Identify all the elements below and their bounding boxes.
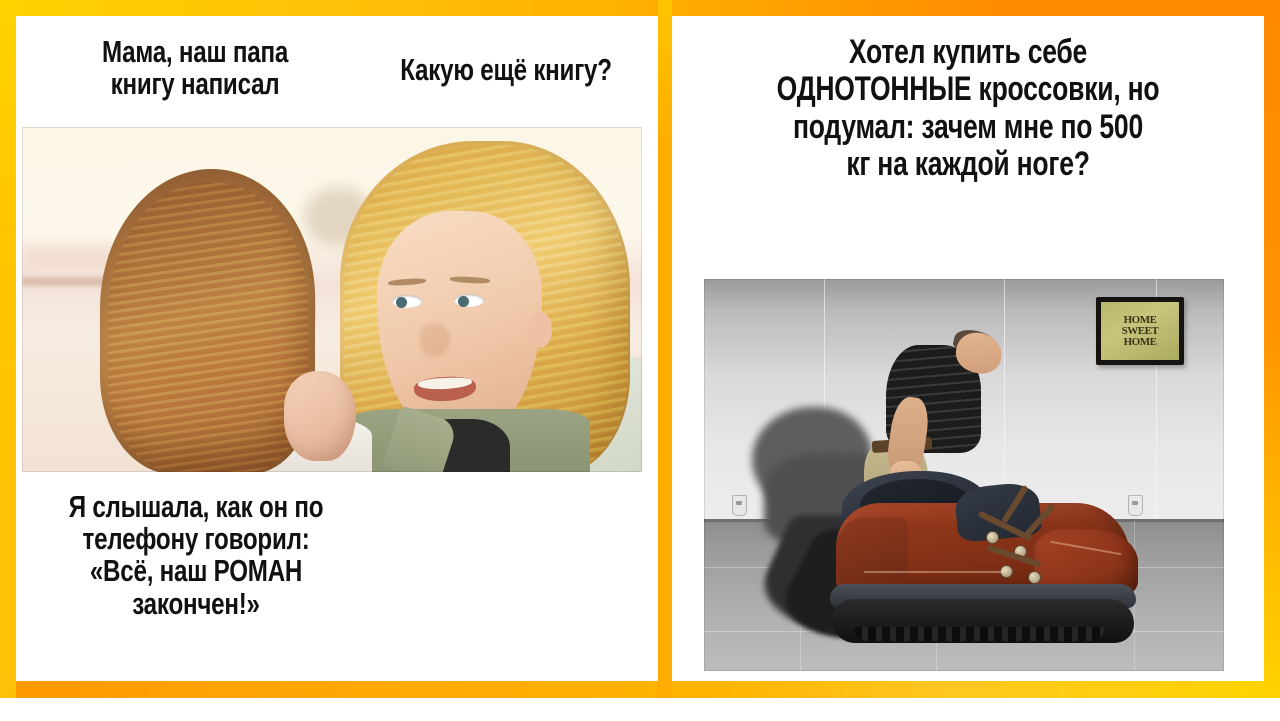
wall-outlet-icon [732,495,747,516]
caption-left-bottom: Я слышала, как он по телефону говорил: «… [56,491,337,620]
caption-left-top-left: Мама, наш папа книгу написал [66,36,323,100]
photo-mother-daughter [22,127,642,472]
shoe-eyelet [1028,571,1041,584]
caption-right-top: Хотел купить себе ОДНОТОННЫЕ кроссовки, … [742,34,1194,184]
caption-left-top-right: Какую ещё книгу? [389,54,623,86]
framed-picture: HOME SWEET HOME [1096,297,1184,365]
mother-ear [528,312,552,348]
shoe-tread [854,627,1104,641]
girl-hair-strands [108,182,308,472]
panel-right: Хотел купить себе ОДНОТОННЫЕ кроссовки, … [672,16,1264,681]
frame-left-band [0,0,16,698]
framed-picture-line-2: SWEET [1122,326,1159,337]
framed-picture-line-3: HOME [1124,337,1157,348]
girl-hand [284,371,356,461]
frame-bottom-band [0,681,1280,698]
photo-giant-shoe: HOME SWEET HOME [704,279,1224,671]
frame-top-band [0,0,1280,16]
shoe-eyelet [986,531,999,544]
mother-pupil-right [458,296,469,307]
shoe-stitching [864,571,1004,573]
wall-outlet-icon [1128,495,1143,516]
meme-collage: Мама, наш папа книгу написал Какую ещё к… [0,0,1280,721]
mother-pupil-left [396,297,407,308]
panel-divider [658,0,672,698]
framed-picture-line-1: HOME [1124,315,1157,326]
frame-right-band [1264,0,1280,698]
framed-picture-art: HOME SWEET HOME [1101,302,1179,360]
panel-left: Мама, наш папа книгу написал Какую ещё к… [16,16,658,681]
